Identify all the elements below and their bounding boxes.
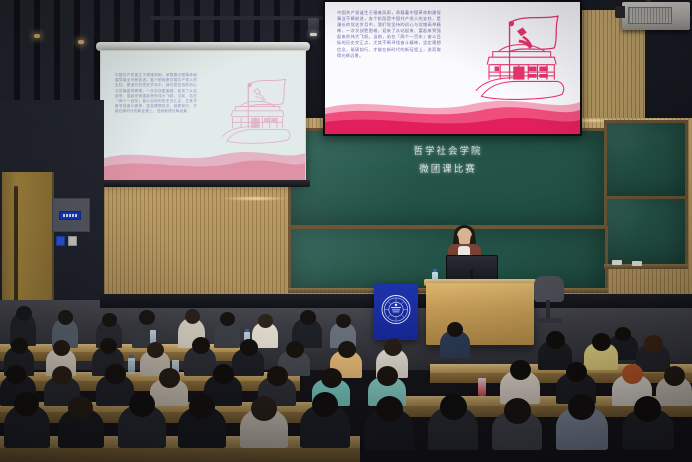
chalk-title-line-2: 微团课比赛 — [291, 161, 605, 175]
ceiling-light — [78, 40, 84, 44]
audience-head — [11, 338, 28, 354]
audience-head — [251, 396, 277, 421]
audience-head — [185, 309, 200, 324]
chair-base — [534, 318, 562, 323]
projector-vent — [628, 7, 672, 24]
chalk-title-line-1: 哲学社会学院 — [291, 143, 605, 157]
audience-head — [644, 335, 663, 353]
lecture-hall-scene: 哲学社会学院 微团课比赛 中国共产党诞生于艰难风雨，承载着中国革命和建党事业不断… — [0, 0, 692, 462]
audience-head — [634, 396, 661, 422]
blackboard-center: 哲学社会学院 微团课比赛 — [288, 128, 608, 228]
audience-head — [6, 365, 26, 384]
ceiling-projector — [622, 2, 690, 30]
audience-head — [504, 398, 531, 424]
audience-head — [510, 360, 531, 380]
podium-banner — [374, 284, 418, 340]
slide-projected: 中国共产党诞生于艰难风雨，承载着中国革命和建党事业不断前进，各个阶段是中国共产党… — [101, 51, 305, 181]
chair-post — [546, 300, 550, 320]
blackboard-sheen — [607, 123, 685, 197]
led-display-panel: 中国共产党诞生于艰难风雨，承载着中国革命和建党事业不断前进，各个阶段是中国共产党… — [323, 0, 582, 136]
audience-head — [267, 366, 288, 386]
slide-body-text: 中国共产党诞生于艰难风雨，承载着中国革命和建党事业不断前进，各个阶段是中国共产党… — [337, 10, 441, 59]
university-seal — [380, 294, 412, 331]
audience-head — [14, 392, 39, 416]
audience-head — [147, 342, 164, 358]
audience-head — [336, 314, 351, 328]
slide-led: 中国共产党诞生于艰难风雨，承载着中国革命和建党事业不断前进，各个阶段是中国共产党… — [325, 2, 580, 134]
blackboard-right-lower — [604, 196, 688, 268]
audience-head — [68, 396, 93, 420]
audience-head — [566, 362, 587, 382]
audience-head — [189, 394, 215, 419]
audience-head — [213, 364, 234, 384]
audience-head — [321, 368, 342, 388]
audience-head — [52, 366, 72, 385]
audience-head — [105, 364, 126, 384]
audience-head — [300, 310, 316, 325]
blackboard-eraser — [612, 260, 622, 265]
audience-head — [592, 333, 611, 351]
audience-head — [447, 322, 463, 337]
audience-head — [376, 396, 403, 422]
blackboard-eraser — [632, 261, 642, 266]
track-light-fixture — [308, 18, 319, 34]
audience-head — [664, 366, 685, 386]
audience-head — [258, 314, 273, 328]
blackboard-sheen — [607, 199, 685, 265]
audience-head — [192, 337, 210, 354]
audience-head — [384, 339, 402, 356]
audience-head — [139, 310, 155, 325]
audience-head — [622, 364, 643, 384]
audience-head — [338, 341, 356, 358]
projection-screen-weight-bar — [96, 180, 310, 187]
blue-exit-sign — [59, 211, 81, 220]
desk-front-panel — [0, 448, 360, 462]
blackboard-right-upper — [604, 120, 688, 200]
audience-head — [440, 394, 467, 420]
audience-head — [129, 392, 155, 417]
audience-head — [220, 312, 235, 326]
light-switch[interactable] — [56, 236, 65, 246]
slide-body-text: 中国共产党诞生于艰难风雨，承载着中国革命和建党事业不断前进，各个阶段是中国共产党… — [115, 73, 197, 115]
audience-head — [615, 327, 631, 341]
audience-head — [568, 394, 595, 420]
slide-wave-decoration — [101, 139, 305, 181]
audience-head — [546, 331, 565, 349]
audience-head — [159, 368, 180, 388]
ceiling-light — [34, 34, 40, 38]
audience-head — [16, 306, 32, 321]
projector-lens — [615, 6, 625, 18]
audience-head — [312, 392, 338, 417]
light-switch[interactable] — [68, 236, 77, 246]
audience-head — [100, 338, 117, 354]
door-window-slit — [14, 186, 18, 304]
water-bottle — [478, 378, 486, 396]
projection-screen: 中国共产党诞生于艰难风雨，承载着中国革命和建党事业不断前进，各个阶段是中国共产党… — [100, 50, 306, 182]
water-bottle — [128, 358, 135, 374]
slide-wave-decoration — [325, 90, 580, 134]
audience-head — [102, 313, 117, 327]
wall-accent-light — [220, 196, 290, 201]
audience-head — [240, 339, 258, 356]
office-chair[interactable] — [534, 276, 564, 302]
audience-head — [58, 310, 73, 325]
audience-head — [286, 341, 304, 358]
audience-head — [53, 340, 70, 356]
audience-head — [377, 366, 398, 386]
